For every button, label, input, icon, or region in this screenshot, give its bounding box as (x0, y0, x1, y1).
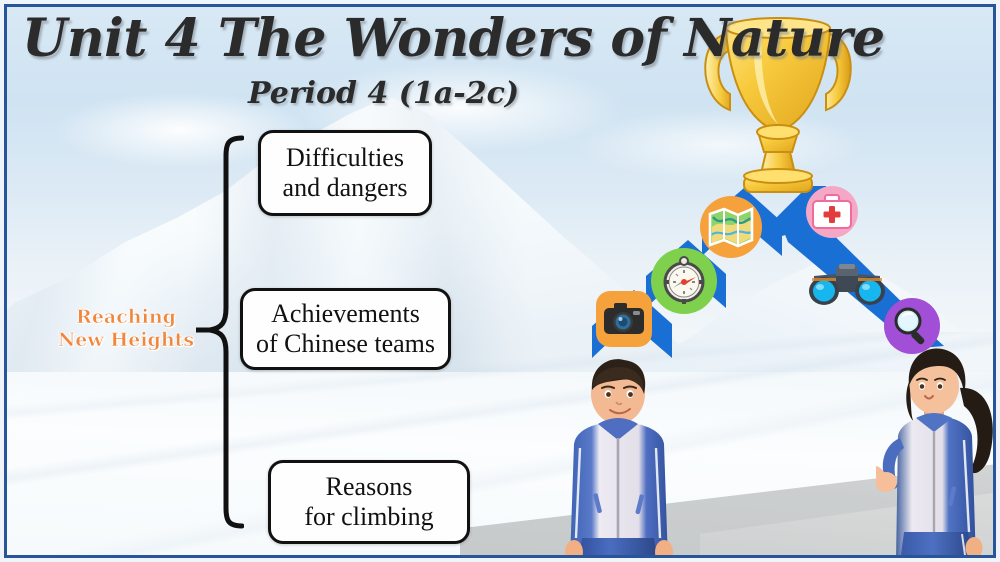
outline-box-reasons[interactable]: Reasons for climbing (268, 460, 470, 544)
outline-box-2-text: Achievements of Chinese teams (256, 299, 435, 359)
outline-box-1-text: Difficulties and dangers (283, 143, 408, 203)
theme-label-line1: Reaching (46, 306, 206, 329)
outline-box-1-line2: and dangers (283, 173, 408, 202)
binoculars-icon (806, 262, 888, 310)
compass-icon (658, 255, 710, 307)
map-badge[interactable] (700, 196, 762, 258)
theme-label-line2: New Heights (46, 329, 206, 352)
camera-badge[interactable] (596, 291, 652, 347)
theme-label: Reaching New Heights (46, 306, 206, 352)
slide-canvas: Reaching New Heights Difficulties and da… (0, 0, 1000, 562)
outline-box-difficulties[interactable]: Difficulties and dangers (258, 130, 432, 216)
binoculars-badge[interactable] (806, 260, 888, 312)
slide-title: Unit 4 The Wonders of Nature (22, 8, 722, 69)
outline-box-3-line1: Reasons (326, 472, 413, 501)
slide-subtitle: Period 4 (1a-2c) (248, 76, 519, 111)
outline-box-3-text: Reasons for climbing (304, 472, 433, 532)
outline-box-2-line2: of Chinese teams (256, 329, 435, 358)
boy-character (536, 352, 704, 562)
map-icon (707, 205, 755, 249)
outline-box-3-line2: for climbing (304, 502, 433, 531)
first-aid-kit-icon (811, 194, 853, 230)
compass-badge[interactable] (651, 248, 717, 314)
outline-box-1-line1: Difficulties (286, 143, 404, 172)
outline-box-achievements[interactable]: Achievements of Chinese teams (240, 288, 451, 370)
first-aid-kit-badge[interactable] (806, 186, 858, 238)
outline-box-2-line1: Achievements (271, 299, 420, 328)
camera-icon (602, 301, 646, 337)
girl-character (876, 336, 1000, 562)
